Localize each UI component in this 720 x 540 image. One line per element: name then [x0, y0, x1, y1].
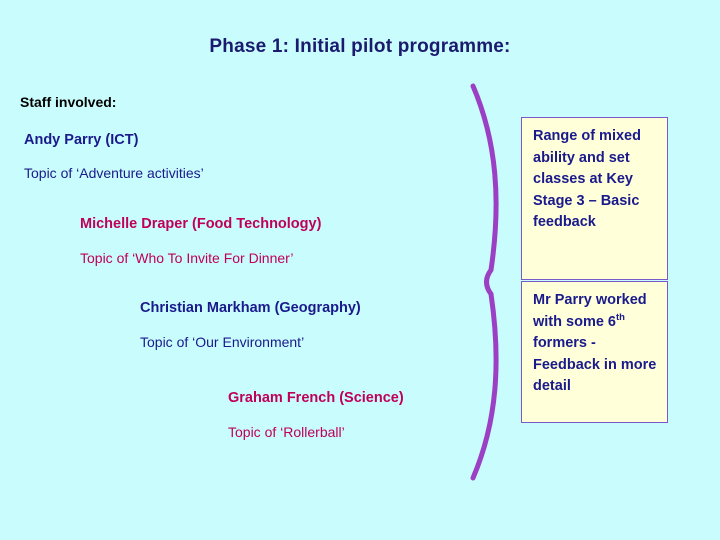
staff-entry-topic-1: Topic of ‘Adventure activities’ [24, 165, 204, 181]
staff-involved-label: Staff involved: [20, 94, 116, 110]
callout-box-1: Range of mixed ability and set classes a… [521, 117, 668, 280]
callout-box-2: Mr Parry worked with some 6th formers - … [521, 281, 668, 423]
staff-entry-name-2: Michelle Draper (Food Technology) [80, 216, 321, 232]
staff-entry-name-1: Andy Parry (ICT) [24, 132, 138, 148]
staff-entry-topic-2: Topic of ‘Who To Invite For Dinner’ [80, 250, 293, 266]
page-title: Phase 1: Initial pilot programme: [0, 36, 720, 58]
curly-brace-icon [455, 82, 525, 482]
staff-entry-name-4: Graham French (Science) [228, 390, 404, 406]
callout-2-sup: th [616, 312, 625, 323]
staff-entry-name-3: Christian Markham (Geography) [140, 300, 361, 316]
staff-entry-topic-4: Topic of ‘Rollerball’ [228, 424, 345, 440]
callout-2-pre: Mr Parry worked with some 6 [533, 292, 647, 330]
callout-2-post: formers - Feedback in more detail [533, 335, 656, 394]
staff-entry-topic-3: Topic of ‘Our Environment’ [140, 334, 304, 350]
slide: Phase 1: Initial pilot programme: Staff … [0, 0, 720, 540]
